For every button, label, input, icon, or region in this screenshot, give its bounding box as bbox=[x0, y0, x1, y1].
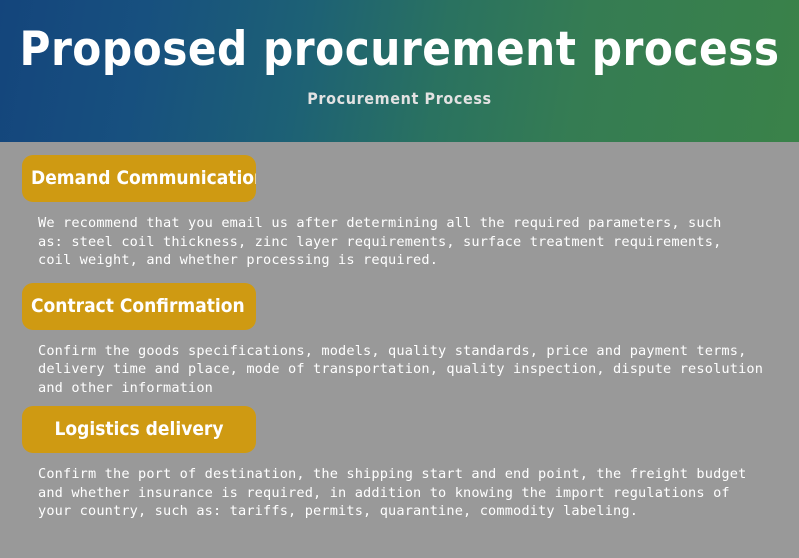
step-badge-logistics-delivery[interactable]: Logistics delivery bbox=[22, 406, 256, 453]
step-description: Confirm the goods specifications, models… bbox=[0, 330, 799, 398]
step-badge-contract-confirmation[interactable]: Contract Confirmation bbox=[22, 283, 256, 330]
steps-list: Demand Communication We recommend that y… bbox=[0, 142, 799, 558]
page-subtitle: Procurement Process bbox=[307, 78, 491, 109]
step-item: Demand Communication We recommend that y… bbox=[0, 155, 799, 270]
header-banner: Proposed procurement process Procurement… bbox=[0, 0, 799, 142]
step-item: Logistics delivery Confirm the port of d… bbox=[0, 406, 799, 521]
step-description: We recommend that you email us after det… bbox=[0, 202, 799, 270]
page-title: Proposed procurement process bbox=[19, 0, 779, 78]
step-badge-demand-communication[interactable]: Demand Communication bbox=[22, 155, 256, 202]
procurement-process-slide: Proposed procurement process Procurement… bbox=[0, 0, 799, 558]
step-description: Confirm the port of destination, the shi… bbox=[0, 453, 799, 521]
step-item: Contract Confirmation Confirm the goods … bbox=[0, 283, 799, 398]
